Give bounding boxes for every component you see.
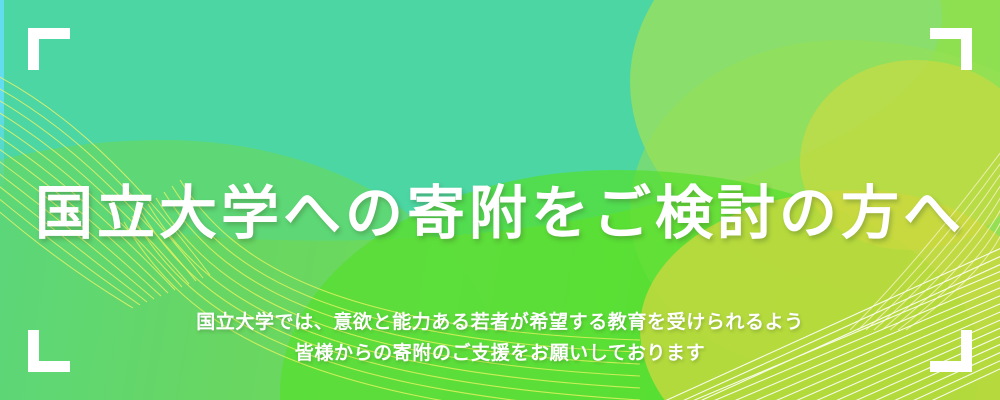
banner-subtitle: 国立大学では、意欲と能力ある若者が希望する教育を受けられるよう 皆様からの寄附の… (0, 308, 1000, 370)
corner-bracket-top-left (28, 28, 70, 70)
promotional-banner: 国立大学への寄附をご検討の方へ 国立大学では、意欲と能力ある若者が希望する教育を… (0, 0, 1000, 400)
subtitle-line-1: 国立大学では、意欲と能力ある若者が希望する教育を受けられるよう (0, 308, 1000, 339)
banner-headline: 国立大学への寄附をご検討の方へ (0, 185, 1000, 243)
cyan-edge-accent (0, 0, 4, 190)
line-fan-top-left (0, 40, 260, 300)
subtitle-line-2: 皆様からの寄附のご支援をお願いしております (0, 339, 1000, 370)
corner-bracket-top-right (930, 28, 972, 70)
